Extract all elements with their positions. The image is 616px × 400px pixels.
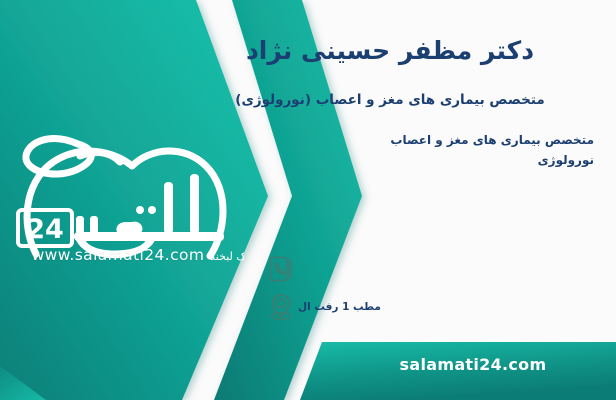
corner-accent-bottom-left <box>0 366 46 400</box>
footer-website-url: salamati24.com <box>330 355 616 374</box>
map-pin-icon <box>264 290 298 324</box>
logo-website-url: www.salamati24.com <box>18 246 218 264</box>
doctor-specialty-sub-line1: متخصص بیماری های مغز و اعصاب <box>234 130 594 150</box>
contact-list: مطب 1 رفت ال <box>264 250 594 326</box>
business-card: 24 براحتی یک لبخند www.salamati24.com دک… <box>0 0 616 400</box>
doctor-name: دکتر مظفر حسینی نژاد <box>180 36 600 65</box>
contact-address-label: مطب 1 رفت ال <box>298 301 387 313</box>
svg-text:24: 24 <box>26 214 64 245</box>
contact-row-phone[interactable] <box>264 250 594 288</box>
phone-book-icon <box>264 252 298 286</box>
logo-badge-24: 24 <box>18 210 72 246</box>
contact-row-address[interactable]: مطب 1 رفت ال <box>264 288 594 326</box>
doctor-specialty-sub: متخصص بیماری های مغز و اعصاب نورولوژی <box>234 130 594 170</box>
doctor-specialty-sub-line2: نورولوژی <box>234 150 594 170</box>
doctor-specialty-main: متخصص بیماری های مغز و اعصاب (نورولوژی) <box>180 92 600 108</box>
